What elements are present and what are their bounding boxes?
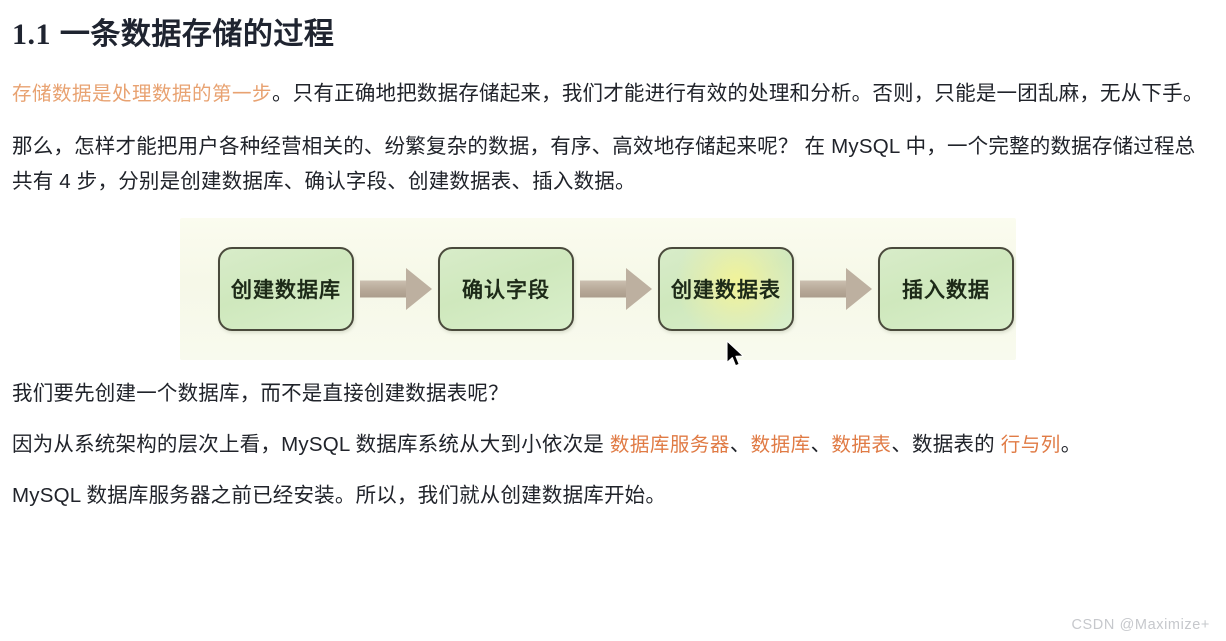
arrow-shaft [360, 280, 410, 297]
hierarchy-mid: 数据表的 [912, 433, 1001, 456]
storage-process-diagram: 创建数据库 确认字段 创建数据表 插入数据 [180, 218, 1016, 360]
highlight-first-step: 存储数据是处理数据的第一步 [12, 84, 272, 105]
flow-node-label: 插入数据 [902, 274, 990, 304]
flow-arrow-icon-2 [574, 266, 658, 312]
flow-node-confirm-fields: 确认字段 [438, 247, 574, 331]
paragraph-intro: 存储数据是处理数据的第一步。只有正确地把数据存储起来，我们才能进行有效的处理和分… [12, 76, 1214, 112]
flow-node-label: 创建数据库 [231, 274, 341, 304]
hierarchy-tail: 。 [1061, 433, 1082, 456]
term-rows-and-columns: 行与列 [1001, 435, 1061, 456]
arrow-shaft [800, 280, 850, 297]
paragraph-hierarchy: 因为从系统架构的层次上看，MySQL 数据库系统从大到小依次是 数据库服务器、数… [12, 427, 1214, 463]
separator-3: 、 [891, 433, 912, 456]
section-number: 1.1 [12, 18, 51, 51]
paragraph-intro-rest: 。只有正确地把数据存储起来，我们才能进行有效的处理和分析。否则，只能是一团乱麻，… [272, 82, 1204, 105]
paragraph-overview: 那么，怎样才能把用户各种经营相关的、纷繁复杂的数据，有序、高效地存储起来呢？ 在… [12, 129, 1214, 200]
flow-node-label: 创建数据表 [671, 274, 781, 304]
page-title: 1.1 一条数据存储的过程 [12, 0, 1214, 54]
arrow-shaft [580, 280, 630, 297]
flow-node-insert-data: 插入数据 [878, 247, 1014, 331]
flow-node-create-table: 创建数据表 [658, 247, 794, 331]
flow-arrow-icon-3 [794, 266, 878, 312]
arrow-head [406, 268, 432, 310]
hierarchy-lead: 因为从系统架构的层次上看，MySQL 数据库系统从大到小依次是 [12, 433, 610, 456]
flow-arrow-icon-1 [354, 266, 438, 312]
separator-2: 、 [811, 433, 832, 456]
term-database: 数据库 [751, 435, 811, 456]
flow-node-label: 确认字段 [462, 274, 550, 304]
document-page: 1.1 一条数据存储的过程 存储数据是处理数据的第一步。只有正确地把数据存储起来… [0, 0, 1226, 641]
csdn-watermark: CSDN @Maximize+ [1071, 617, 1210, 633]
flow-node-create-database: 创建数据库 [218, 247, 354, 331]
separator-1: 、 [730, 433, 751, 456]
paragraph-question: 我们要先创建一个数据库，而不是直接创建数据表呢？ [12, 376, 1214, 411]
term-data-table: 数据表 [831, 435, 891, 456]
section-title-text: 一条数据存储的过程 [60, 18, 335, 51]
arrow-head [626, 268, 652, 310]
term-database-server: 数据库服务器 [610, 435, 730, 456]
arrow-head [846, 268, 872, 310]
flow-row: 创建数据库 确认字段 创建数据表 插入数据 [180, 218, 1016, 360]
paragraph-conclusion: MySQL 数据库服务器之前已经安装。所以，我们就从创建数据库开始。 [12, 478, 1214, 513]
